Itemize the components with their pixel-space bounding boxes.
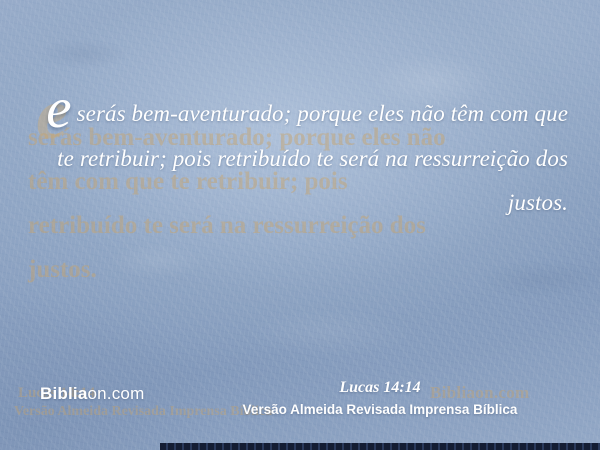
bible-version: Versão Almeida Revisada Imprensa Bíblica bbox=[210, 400, 550, 419]
verse-text: eserás bem-aventurado; porque eles não t… bbox=[34, 92, 568, 226]
bottom-dashed-strip bbox=[160, 443, 600, 450]
verse-image-card: e serás bem-aventurado; porque eles não … bbox=[0, 0, 600, 450]
logo-light-part: on.com bbox=[88, 384, 145, 403]
reference-block: Lucas 14:14 Versão Almeida Revisada Impr… bbox=[210, 378, 550, 419]
verse-body: serás bem-aventurado; porque eles não tê… bbox=[57, 101, 568, 215]
verse-initial-letter: e bbox=[46, 77, 76, 140]
logo-bold-part: Biblia bbox=[40, 384, 88, 403]
verse-reference: Lucas 14:14 bbox=[210, 378, 550, 398]
bibliaon-logo[interactable]: Bibliaon.com bbox=[40, 384, 144, 404]
